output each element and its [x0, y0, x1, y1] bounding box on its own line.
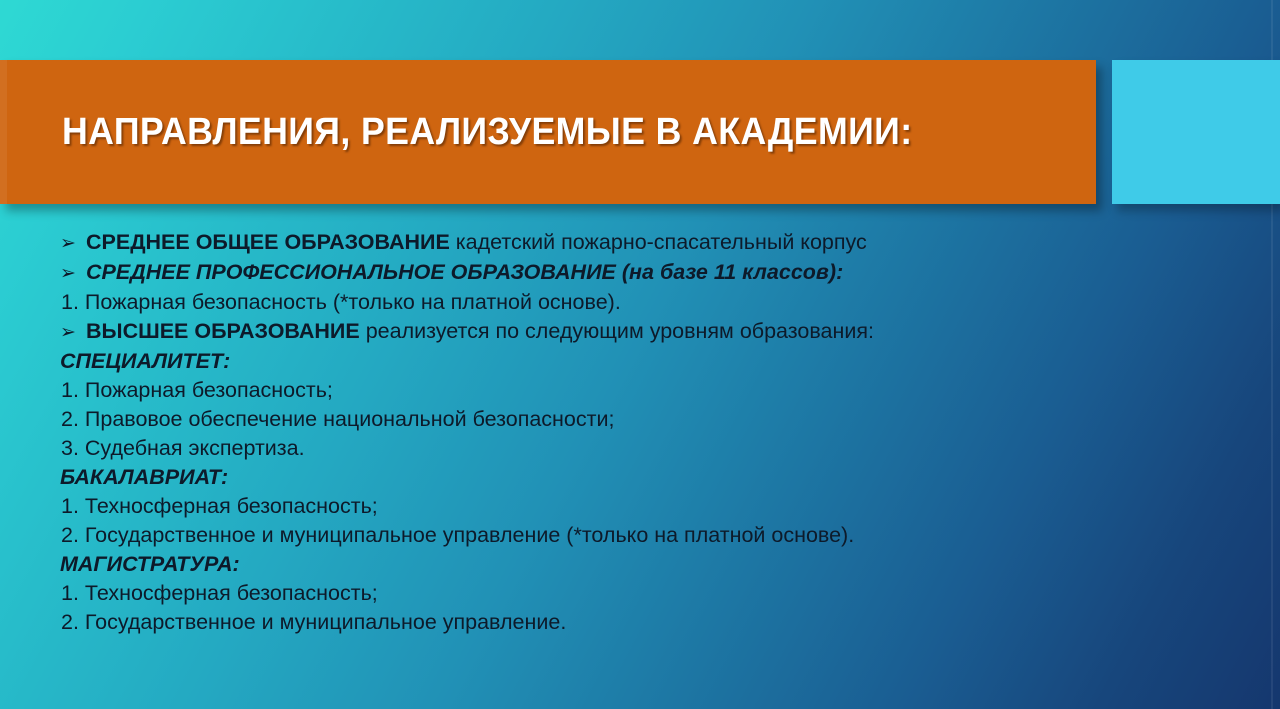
list-item: 1. Пожарная безопасность (*только на пла…	[60, 288, 1060, 317]
section-rest-label: (на базе 11 классов):	[616, 260, 843, 284]
accent-block	[1112, 60, 1280, 204]
list-item: 1. Пожарная безопасность;	[60, 376, 1060, 405]
list-item: 2. Государственное и муниципальное управ…	[60, 608, 1060, 637]
arrow-bullet-icon: ➢	[60, 259, 86, 288]
section-lead-label: ВЫСШЕЕ ОБРАЗОВАНИЕ	[86, 319, 360, 343]
slide-body: ➢ СРЕДНЕЕ ОБЩЕЕ ОБРАЗОВАНИЕ кадетский по…	[60, 228, 1060, 637]
title-banner: НАПРАВЛЕНИЯ, РЕАЛИЗУЕМЫЕ В АКАДЕМИИ:	[0, 60, 1096, 204]
bullet-item-secondary-vocational: ➢ СРЕДНЕЕ ПРОФЕССИОНАЛЬНОЕ ОБРАЗОВАНИЕ (…	[60, 258, 1060, 288]
arrow-bullet-icon: ➢	[60, 229, 86, 258]
section-rest-label: реализуется по следующим уровням образов…	[360, 319, 874, 343]
list-item: 3. Судебная экспертиза.	[60, 434, 1060, 463]
list-item: 2. Государственное и муниципальное управ…	[60, 521, 1060, 550]
bullet-item-higher-education: ➢ ВЫСШЕЕ ОБРАЗОВАНИЕ реализуется по след…	[60, 317, 1060, 347]
level-heading-bachelor: БАКАЛАВРИАТ:	[60, 463, 1060, 492]
bullet-item-secondary-general: ➢ СРЕДНЕЕ ОБЩЕЕ ОБРАЗОВАНИЕ кадетский по…	[60, 228, 1060, 258]
section-lead-label: СРЕДНЕЕ ОБЩЕЕ ОБРАЗОВАНИЕ	[86, 230, 450, 254]
level-heading-specialist: СПЕЦИАЛИТЕТ:	[60, 347, 1060, 376]
list-item: 2. Правовое обеспечение национальной без…	[60, 405, 1060, 434]
page-title: НАПРАВЛЕНИЯ, РЕАЛИЗУЕМЫЕ В АКАДЕМИИ:	[62, 60, 912, 204]
arrow-bullet-icon: ➢	[60, 318, 86, 347]
presentation-slide: НАПРАВЛЕНИЯ, РЕАЛИЗУЕМЫЕ В АКАДЕМИИ: ➢ С…	[0, 0, 1280, 709]
list-item: 1. Техносферная безопасность;	[60, 579, 1060, 608]
banner-left-edge-highlight	[0, 60, 7, 204]
level-heading-master: МАГИСТРАТУРА:	[60, 550, 1060, 579]
section-lead-label: СРЕДНЕЕ ПРОФЕССИОНАЛЬНОЕ ОБРАЗОВАНИЕ	[86, 260, 616, 284]
section-rest-label: кадетский пожарно-спасательный корпус	[450, 230, 867, 254]
list-item: 1. Техносферная безопасность;	[60, 492, 1060, 521]
